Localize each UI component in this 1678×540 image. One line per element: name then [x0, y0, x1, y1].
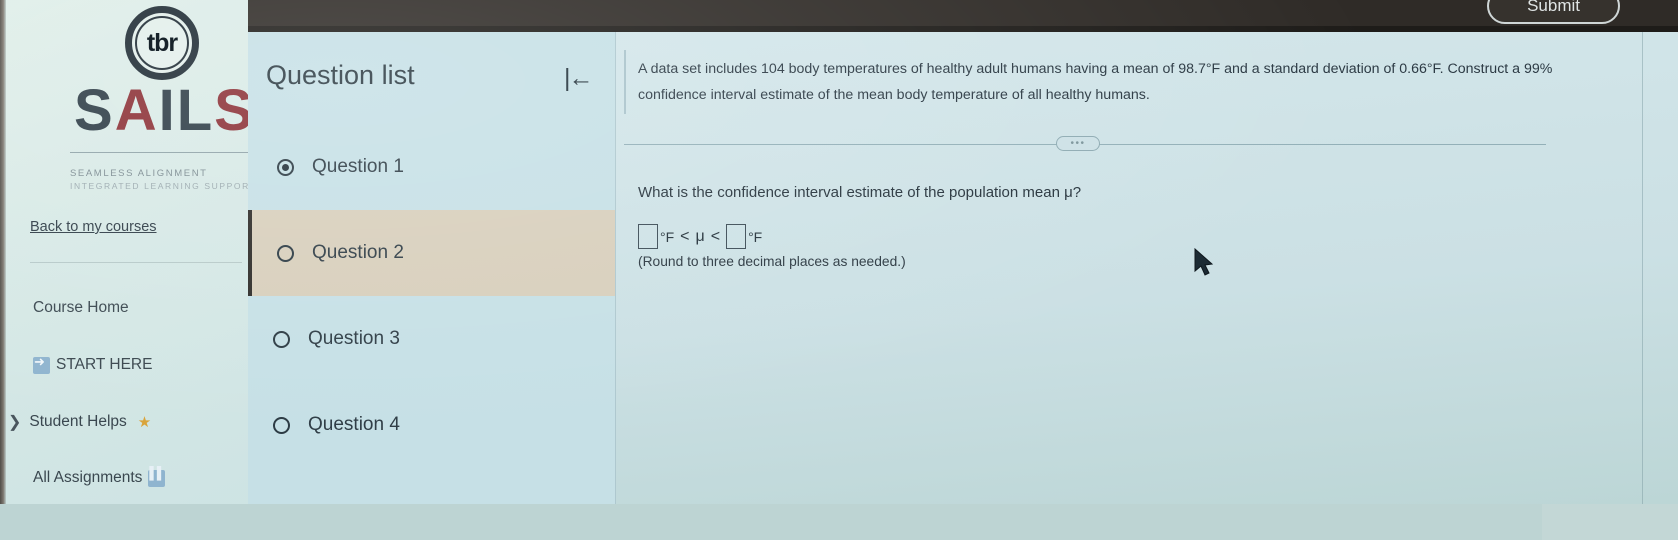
question-list-item-label: Question 3	[308, 328, 400, 350]
sidebar-item-label: Student Helps	[29, 413, 126, 431]
sidebar-divider	[30, 262, 242, 263]
question-stem-text: A data set includes 104 body temperature…	[638, 56, 1558, 109]
question-prompt-text: What is the confidence interval estimate…	[638, 184, 1081, 201]
brand-block: tbr SAILS	[0, 6, 248, 140]
sidebar-item-start-here[interactable]: START HERE	[33, 356, 248, 374]
question-content-panel: A data set includes 104 body temperature…	[616, 32, 1678, 504]
answer-lower-bound-input[interactable]	[638, 224, 658, 249]
radio-icon[interactable]	[277, 245, 294, 262]
question-list-title: Question list	[266, 60, 415, 91]
brand-divider	[70, 152, 248, 153]
content-right-rule	[1642, 32, 1643, 504]
question-list-item-label: Question 4	[308, 414, 400, 436]
tbr-logo-text: tbr	[147, 29, 177, 58]
question-stem-accent-bar	[624, 50, 626, 114]
question-list-item-label: Question 1	[312, 156, 404, 178]
radio-icon[interactable]	[273, 331, 290, 348]
brand-tagline: SEAMLESS ALIGNMENT INTEGRATED LEARNING S…	[70, 168, 248, 192]
bottom-right-strip	[1542, 504, 1678, 540]
answer-upper-bound-input[interactable]	[726, 224, 746, 249]
question-list-header: Question list |←	[248, 32, 616, 112]
relation-right: <	[711, 228, 720, 246]
sails-wordmark: SAILS	[56, 82, 248, 140]
sidebar-item-course-home[interactable]: Course Home	[33, 299, 248, 317]
bottom-strip	[0, 504, 1678, 540]
question-list-panel: Question list |← Question 1 Question 2 Q…	[248, 32, 616, 504]
back-to-my-courses-link[interactable]: Back to my courses	[30, 219, 157, 235]
app-topbar: Submit	[248, 0, 1678, 32]
sidebar-item-all-assignments[interactable]: All Assignments	[33, 469, 248, 487]
question-list-item[interactable]: Question 3	[248, 296, 616, 382]
unit-label-left: °F	[660, 229, 674, 245]
tbr-logo-icon: tbr	[125, 6, 199, 80]
course-sidebar: tbr SAILS SEAMLESS ALIGNMENT INTEGRATED …	[0, 0, 248, 540]
radio-icon[interactable]	[277, 159, 294, 176]
question-list-item-label: Question 2	[312, 242, 404, 264]
bars-square-icon	[148, 470, 165, 487]
collapse-panel-icon[interactable]: |←	[564, 66, 592, 91]
answer-inequality-row: °F < μ < °F	[638, 224, 762, 249]
question-list-item[interactable]: Question 1	[248, 124, 616, 210]
sidebar-item-label: All Assignments	[33, 469, 142, 487]
arrow-in-square-icon	[33, 357, 50, 374]
unit-label-right: °F	[748, 229, 762, 245]
brand-tagline-line1: SEAMLESS ALIGNMENT	[70, 168, 248, 181]
more-options-pill[interactable]: •••	[1056, 136, 1100, 151]
radio-icon[interactable]	[273, 417, 290, 434]
question-list-item[interactable]: Question 4	[248, 382, 616, 468]
sidebar-item-student-helps[interactable]: ❯ Student Helps ★	[8, 412, 244, 432]
brand-tagline-line2: INTEGRATED LEARNING SUPPORT	[70, 181, 248, 192]
submit-button[interactable]: Submit	[1487, 0, 1620, 24]
relation-left: <	[680, 228, 689, 246]
screen-root: tbr SAILS SEAMLESS ALIGNMENT INTEGRATED …	[0, 0, 1678, 540]
chevron-right-icon: ❯	[8, 412, 21, 432]
sidebar-item-label: Course Home	[33, 299, 129, 317]
sidebar-item-label: START HERE	[56, 356, 152, 374]
question-list-item[interactable]: Question 2	[248, 210, 616, 296]
mu-symbol: μ	[696, 228, 705, 246]
rounding-instruction-text: (Round to three decimal places as needed…	[638, 254, 906, 269]
star-icon: ★	[138, 413, 151, 431]
